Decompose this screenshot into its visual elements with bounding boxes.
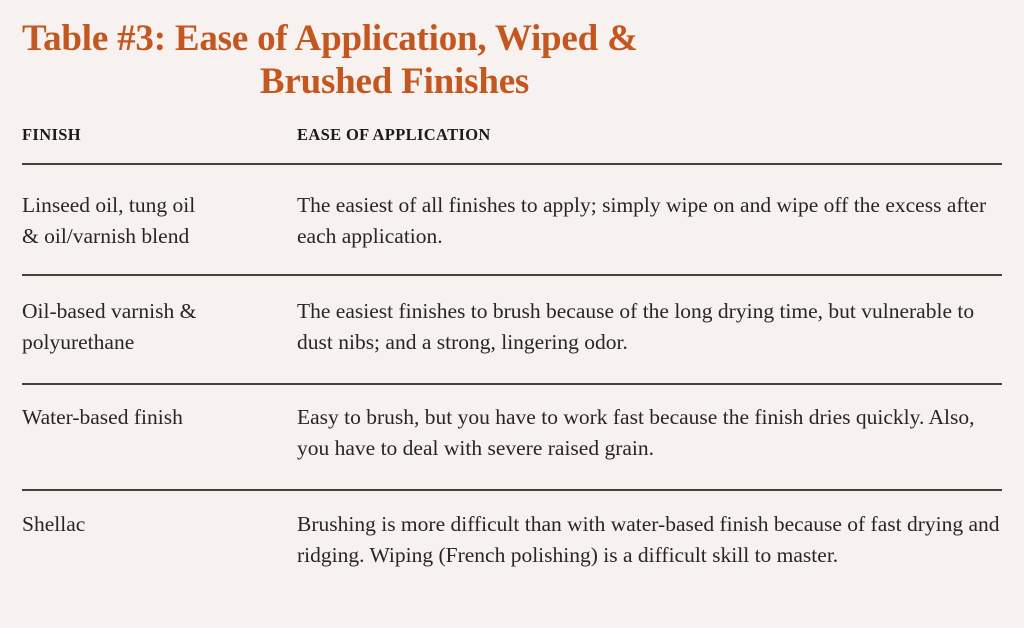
table-cell-ease: Easy to brush, but you have to work fast… bbox=[297, 402, 1002, 464]
table-cell-finish: Linseed oil, tung oil & oil/varnish blen… bbox=[22, 190, 297, 252]
column-header-ease-of-application: EASE OF APPLICATION bbox=[297, 125, 1002, 145]
table-cell-finish: Water-based finish bbox=[22, 402, 297, 433]
page-title-line-2: Brushed Finishes bbox=[22, 60, 767, 103]
page-title-line-1: Table #3: Ease of Application, Wiped & bbox=[22, 17, 767, 60]
ease-of-application-description: The easiest of all finishes to apply; si… bbox=[297, 190, 1002, 252]
table-row: Water-based finish Easy to brush, but yo… bbox=[22, 402, 1002, 464]
finish-name: Linseed oil, tung oil & oil/varnish blen… bbox=[22, 190, 285, 252]
page-title: Table #3: Ease of Application, Wiped & B… bbox=[22, 0, 767, 103]
table-header-cell-ease: EASE OF APPLICATION bbox=[297, 125, 1002, 145]
table-rule-row-2 bbox=[22, 383, 1002, 385]
column-header-finish: FINISH bbox=[22, 125, 285, 145]
table-rule-row-1 bbox=[22, 274, 1002, 276]
table-header-row: FINISH EASE OF APPLICATION bbox=[22, 125, 1002, 145]
table-row: Oil-based varnish & polyurethane The eas… bbox=[22, 296, 1002, 358]
table-cell-ease: The easiest of all finishes to apply; si… bbox=[297, 190, 1002, 252]
table-rule-row-3 bbox=[22, 489, 1002, 491]
ease-of-application-description: The easiest finishes to brush because of… bbox=[297, 296, 1002, 358]
table-cell-ease: The easiest finishes to brush because of… bbox=[297, 296, 1002, 358]
table-cell-ease: Brushing is more difficult than with wat… bbox=[297, 509, 1002, 571]
table-row: Linseed oil, tung oil & oil/varnish blen… bbox=[22, 190, 1002, 252]
finish-name: Oil-based varnish & polyurethane bbox=[22, 296, 285, 358]
table-row: Shellac Brushing is more difficult than … bbox=[22, 509, 1002, 571]
table-rule-header bbox=[22, 163, 1002, 165]
table-page: Table #3: Ease of Application, Wiped & B… bbox=[0, 0, 1024, 628]
finish-name: Water-based finish bbox=[22, 402, 285, 433]
ease-of-application-description: Easy to brush, but you have to work fast… bbox=[297, 402, 1002, 464]
table-cell-finish: Oil-based varnish & polyurethane bbox=[22, 296, 297, 358]
table-cell-finish: Shellac bbox=[22, 509, 297, 540]
ease-of-application-description: Brushing is more difficult than with wat… bbox=[297, 509, 1002, 571]
table-header-cell-finish: FINISH bbox=[22, 125, 297, 145]
finish-name: Shellac bbox=[22, 509, 285, 540]
